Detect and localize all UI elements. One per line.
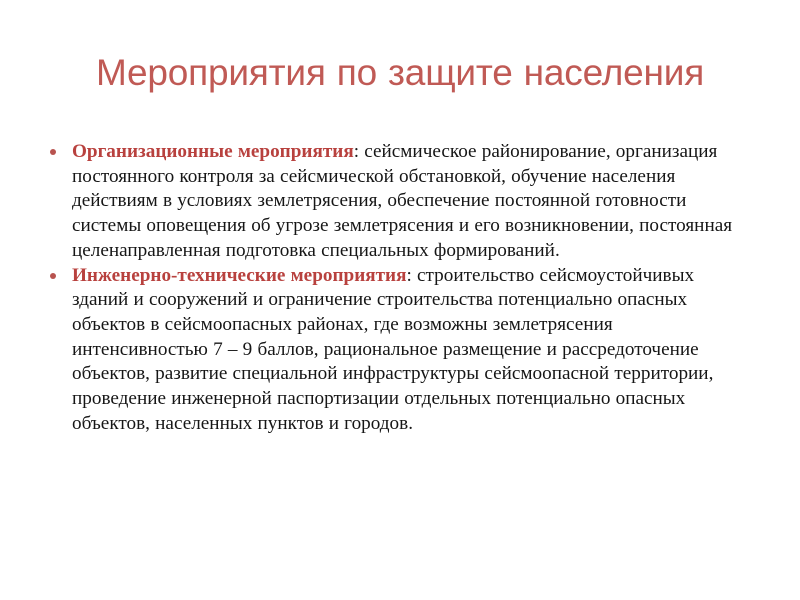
list-item-separator: : (354, 141, 365, 162)
list-item-separator: : (407, 265, 418, 286)
list-item: Инженерно-технические мероприятия: строи… (44, 264, 744, 437)
list-item: Организационные мероприятия: сейсмическо… (44, 140, 744, 264)
list-item-lead-in: Организационные мероприятия (72, 141, 354, 162)
list-item-lead-in: Инженерно-технические мероприятия (72, 265, 407, 286)
bullet-list: Организационные мероприятия: сейсмическо… (44, 140, 744, 436)
presentation-slide: Мероприятия по защите населения Организа… (0, 0, 800, 600)
round-bullet-icon (50, 149, 56, 155)
list-item-text: строительство сейсмоустойчивых зданий и … (72, 265, 713, 434)
round-bullet-icon (50, 273, 56, 279)
page-title: Мероприятия по защите населения (86, 49, 714, 96)
